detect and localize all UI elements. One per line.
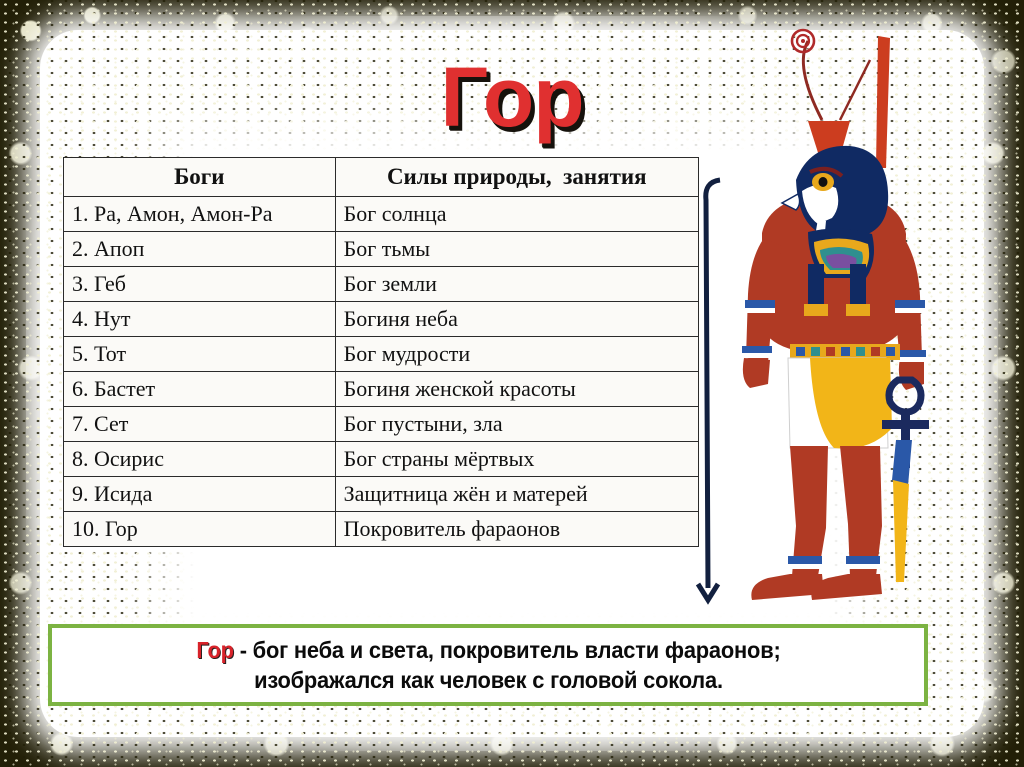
- falcon-pupil-icon: [819, 177, 828, 187]
- caption-highlight: Гор: [196, 637, 233, 663]
- crown-strap-icon: [840, 60, 870, 120]
- cell-god-domain: Бог тьмы: [335, 232, 698, 267]
- cell-god-domain: Бог солнца: [335, 197, 698, 232]
- cell-god-name: 2. Апоп: [64, 232, 336, 267]
- cell-god-name: 7. Сет: [64, 407, 336, 442]
- anklet-left: [788, 556, 822, 564]
- strap-clasp-right: [846, 304, 870, 316]
- armband-right-white: [895, 308, 925, 313]
- table-header-row: Боги Силы природы, занятия: [64, 158, 699, 197]
- table-row: 5. ТотБог мудрости: [64, 337, 699, 372]
- cell-god-domain: Бог пустыни, зла: [335, 407, 698, 442]
- cell-god-name: 8. Осирис: [64, 442, 336, 477]
- armband-left-white: [745, 308, 775, 313]
- wristband-left-white: [742, 353, 772, 358]
- anklet-right-white: [846, 564, 880, 569]
- cell-god-name: 1. Ра, Амон, Амон-Ра: [64, 197, 336, 232]
- was-staff-icon: [706, 180, 720, 588]
- armband-right: [895, 300, 925, 308]
- table-row: 10. ГорПокровитель фараонов: [64, 512, 699, 547]
- wristband-right-white: [896, 357, 926, 362]
- column-header-gods: Боги: [64, 158, 336, 197]
- sash-blue: [892, 440, 912, 486]
- caption-box: Гор - бог неба и света, покровитель влас…: [48, 624, 928, 706]
- cell-god-name: 5. Тот: [64, 337, 336, 372]
- wristband-left: [742, 346, 772, 353]
- column-header-domains: Силы природы, занятия: [335, 158, 698, 197]
- cell-god-name: 10. Гор: [64, 512, 336, 547]
- page-title-text: Гор: [440, 50, 583, 144]
- table-row: 2. АпопБог тьмы: [64, 232, 699, 267]
- table-row: 6. БастетБогиня женской красоты: [64, 372, 699, 407]
- armband-left: [745, 300, 775, 308]
- crown-plume-icon: [876, 36, 890, 168]
- cell-god-domain: Богиня женской красоты: [335, 372, 698, 407]
- table-row: 1. Ра, Амон, Амон-РаБог солнца: [64, 197, 699, 232]
- gods-table: Боги Силы природы, занятия 1. Ра, Амон, …: [63, 157, 699, 547]
- cell-god-domain: Бог страны мёртвых: [335, 442, 698, 477]
- cell-god-domain: Защитница жён и матерей: [335, 477, 698, 512]
- anklet-left-white: [788, 564, 822, 569]
- uraeus-spiral-core-icon: [801, 39, 805, 43]
- cell-god-name: 3. Геб: [64, 267, 336, 302]
- cell-god-domain: Бог мудрости: [335, 337, 698, 372]
- slide-background: Гор Боги Силы природы, занятия 1. Ра, Ам…: [0, 0, 1024, 767]
- cell-god-domain: Богиня неба: [335, 302, 698, 337]
- table-body: 1. Ра, Амон, Амон-РаБог солнца2. АпопБог…: [64, 197, 699, 547]
- caption-text: Гор - бог неба и света, покровитель влас…: [196, 635, 780, 695]
- left-hand: [743, 358, 770, 388]
- sash-gold-tail: [893, 480, 909, 582]
- table-row: 9. ИсидаЗащитница жён и матерей: [64, 477, 699, 512]
- table-row: 3. ГебБог земли: [64, 267, 699, 302]
- anklet-right: [846, 556, 880, 564]
- caption-line1: - бог неба и света, покровитель власти ф…: [233, 637, 780, 663]
- cell-god-domain: Покровитель фараонов: [335, 512, 698, 547]
- strap-clasp-left: [804, 304, 828, 316]
- cell-god-name: 6. Бастет: [64, 372, 336, 407]
- caption-line2: изображался как человек с головой сокола…: [254, 667, 723, 693]
- table-row: 8. ОсирисБог страны мёртвых: [64, 442, 699, 477]
- cell-god-name: 4. Нут: [64, 302, 336, 337]
- table-row: 7. СетБог пустыни, зла: [64, 407, 699, 442]
- horus-illustration: [690, 28, 950, 613]
- table-row: 4. НутБогиня неба: [64, 302, 699, 337]
- cell-god-name: 9. Исида: [64, 477, 336, 512]
- cell-god-domain: Бог земли: [335, 267, 698, 302]
- wristband-right: [896, 350, 926, 357]
- ankh-crossbar-icon: [882, 420, 929, 429]
